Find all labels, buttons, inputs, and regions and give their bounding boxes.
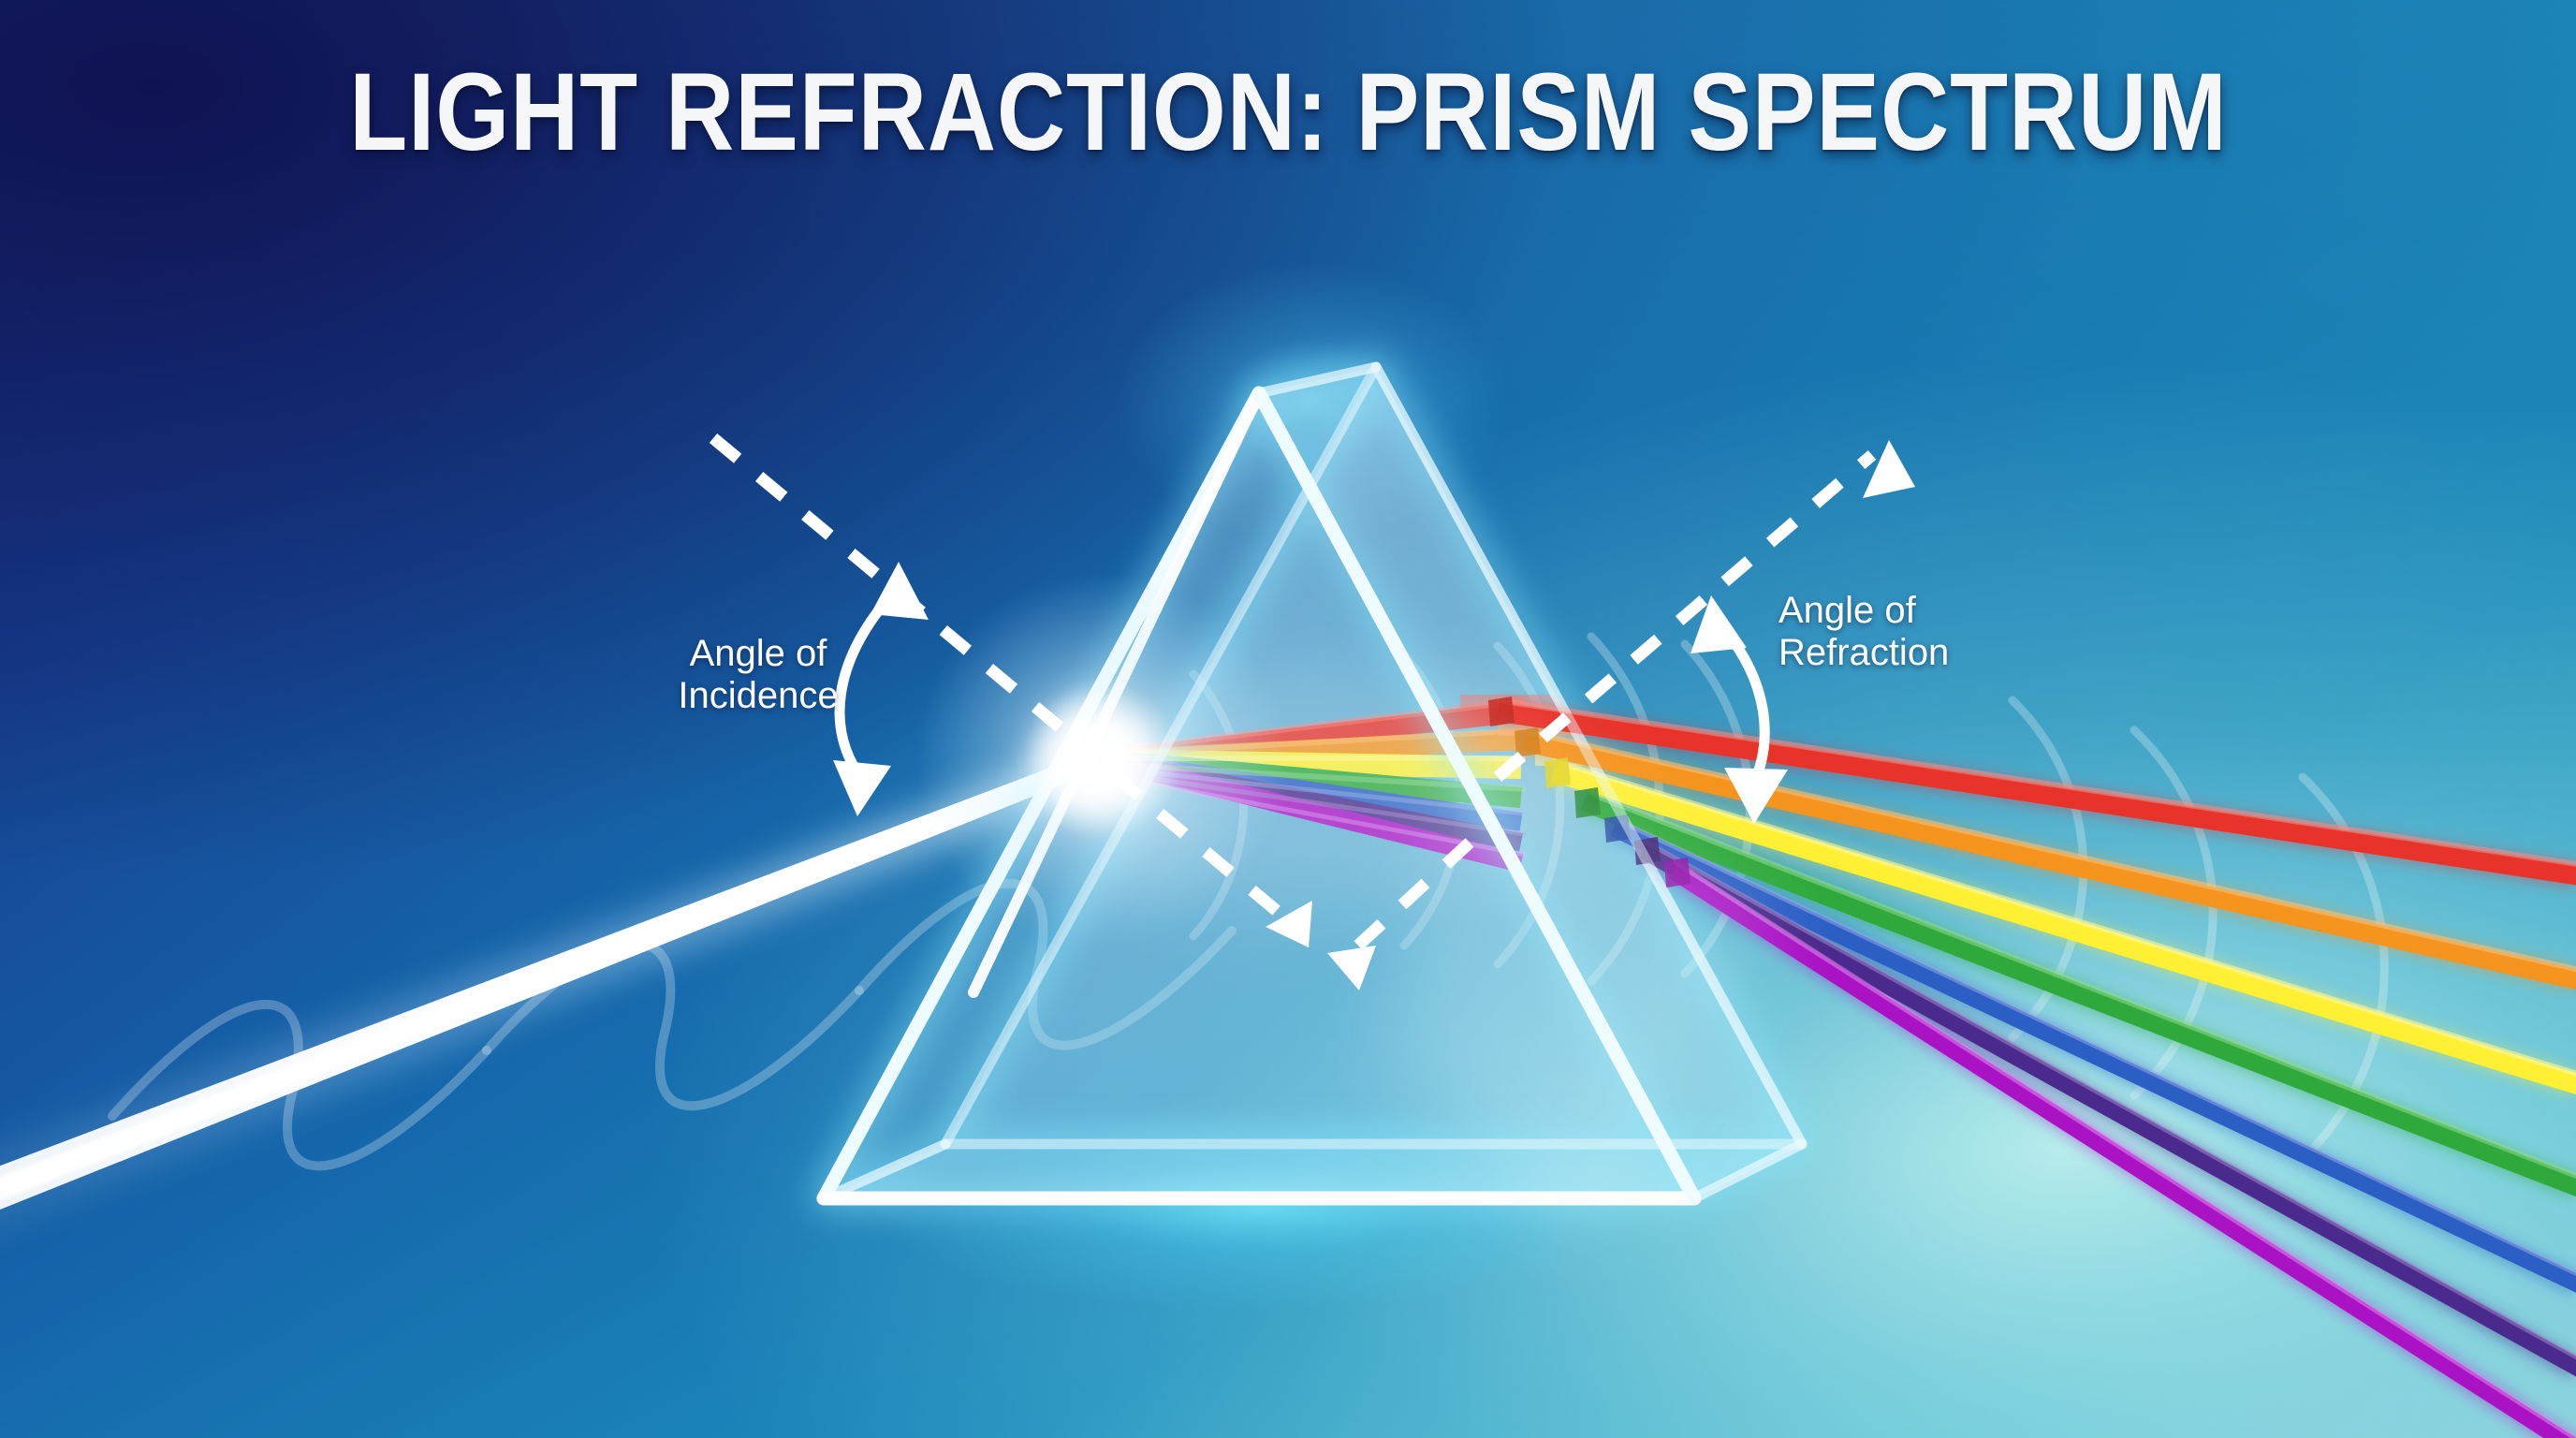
- entry-hotspot: [915, 573, 1290, 947]
- illustration-canvas: LIGHT REFRACTION: PRISM SPECTRUM Angle o…: [0, 0, 2576, 1438]
- prism-refraction-scene: [0, 0, 2576, 1438]
